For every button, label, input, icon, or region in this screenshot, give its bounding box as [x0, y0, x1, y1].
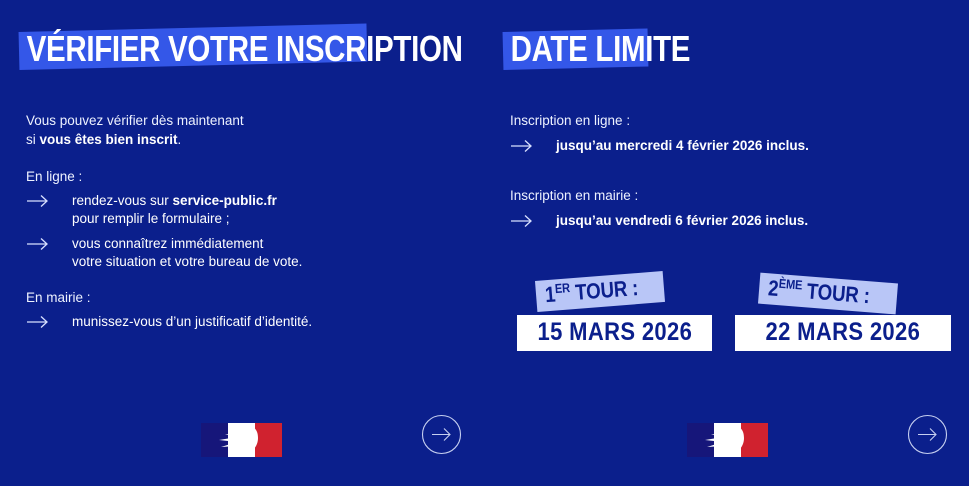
list-item: rendez-vous sur service-public.fr pour r…: [26, 192, 446, 228]
label-en-ligne: En ligne :: [26, 168, 446, 186]
republique-francaise-logo: [201, 423, 282, 457]
next-slide-arrow-button[interactable]: [907, 414, 948, 455]
tour-1-date: 15 MARS 2026: [517, 315, 712, 351]
tour-1-date-text: 15 MARS 2026: [538, 319, 693, 346]
tour-1-word: TOUR :: [569, 275, 639, 305]
lead-line-1: Vous pouvez vérifier dès maintenant: [26, 113, 244, 128]
republique-francaise-logo: [687, 423, 768, 457]
slide-panel-date-limite: DATE LIMITE Inscription en ligne : jusqu…: [484, 0, 969, 486]
tour-2-suffix: ÈME: [778, 276, 803, 293]
slideshow-stage: VÉRIFIER VOTRE INSCRIPTION Vous pouvez v…: [0, 0, 969, 486]
arrow-right-icon: [510, 212, 556, 228]
list-item-line1-prefix: vous connaîtrez immédiatement: [72, 236, 263, 251]
left-panel-body: Vous pouvez vérifier dès maintenant si v…: [26, 112, 446, 331]
arrow-right-icon: [510, 137, 556, 153]
arrow-right-icon: [26, 235, 72, 251]
list-item: vous connaîtrez immédiatement votre situ…: [26, 235, 446, 271]
list-item-text: munissez-vous d’un justificatif d’identi…: [72, 313, 446, 331]
mairie-deadline-text: jusqu’au vendredi 6 février 2026 inclus.: [556, 212, 940, 230]
left-panel-heading-text: VÉRIFIER VOTRE INSCRIPTION: [25, 28, 464, 70]
right-panel-heading: DATE LIMITE: [509, 28, 732, 70]
tour-1-suffix: ER: [554, 280, 570, 296]
list-item-line1-prefix: rendez-vous sur: [72, 193, 173, 208]
list-item-text: rendez-vous sur service-public.fr pour r…: [72, 192, 446, 228]
tour-1-chip-text: 1ER TOUR :: [544, 276, 639, 307]
label-en-mairie: En mairie :: [26, 289, 446, 307]
lead-line-2-bold: vous êtes bien inscrit: [40, 132, 178, 147]
right-panel-body: Inscription en ligne : jusqu’au mercredi…: [510, 112, 940, 230]
tour-2-chip-text: 2ÈME TOUR :: [767, 276, 870, 308]
arrow-right-icon: [26, 192, 72, 208]
list-item: munissez-vous d’un justificatif d’identi…: [26, 313, 446, 331]
right-panel-heading-text: DATE LIMITE: [509, 28, 692, 70]
lead-paragraph: Vous pouvez vérifier dès maintenant si v…: [26, 112, 446, 149]
list-item-text: vous connaîtrez immédiatement votre situ…: [72, 235, 446, 271]
list-item-line2: pour remplir le formulaire ;: [72, 211, 230, 226]
list-item-line1-bold: service-public.fr: [173, 193, 277, 208]
slide-panel-verifier: VÉRIFIER VOTRE INSCRIPTION Vous pouvez v…: [0, 0, 484, 486]
list-item-line2: votre situation et votre bureau de vote.: [72, 254, 302, 269]
tour-2-date-text: 22 MARS 2026: [766, 319, 921, 346]
list-item-line1-prefix: munissez-vous d’un justificatif d’identi…: [72, 314, 312, 329]
lead-line-2-suffix: .: [178, 132, 182, 147]
label-inscription-en-mairie: Inscription en mairie :: [510, 187, 940, 205]
tour-2-chip: 2ÈME TOUR :: [758, 273, 898, 315]
online-deadline-text: jusqu’au mercredi 4 février 2026 inclus.: [556, 137, 940, 155]
tour-2-word: TOUR :: [801, 278, 871, 308]
next-slide-arrow-button[interactable]: [421, 414, 462, 455]
lead-line-2-prefix: si: [26, 132, 40, 147]
list-item: jusqu’au mercredi 4 février 2026 inclus.: [510, 137, 940, 155]
list-item: jusqu’au vendredi 6 février 2026 inclus.: [510, 212, 940, 230]
left-panel-heading: VÉRIFIER VOTRE INSCRIPTION: [25, 28, 561, 70]
arrow-right-icon: [26, 313, 72, 329]
tour-1-chip: 1ER TOUR :: [535, 271, 665, 312]
tour-2-date: 22 MARS 2026: [735, 315, 951, 351]
label-inscription-en-ligne: Inscription en ligne :: [510, 112, 940, 130]
